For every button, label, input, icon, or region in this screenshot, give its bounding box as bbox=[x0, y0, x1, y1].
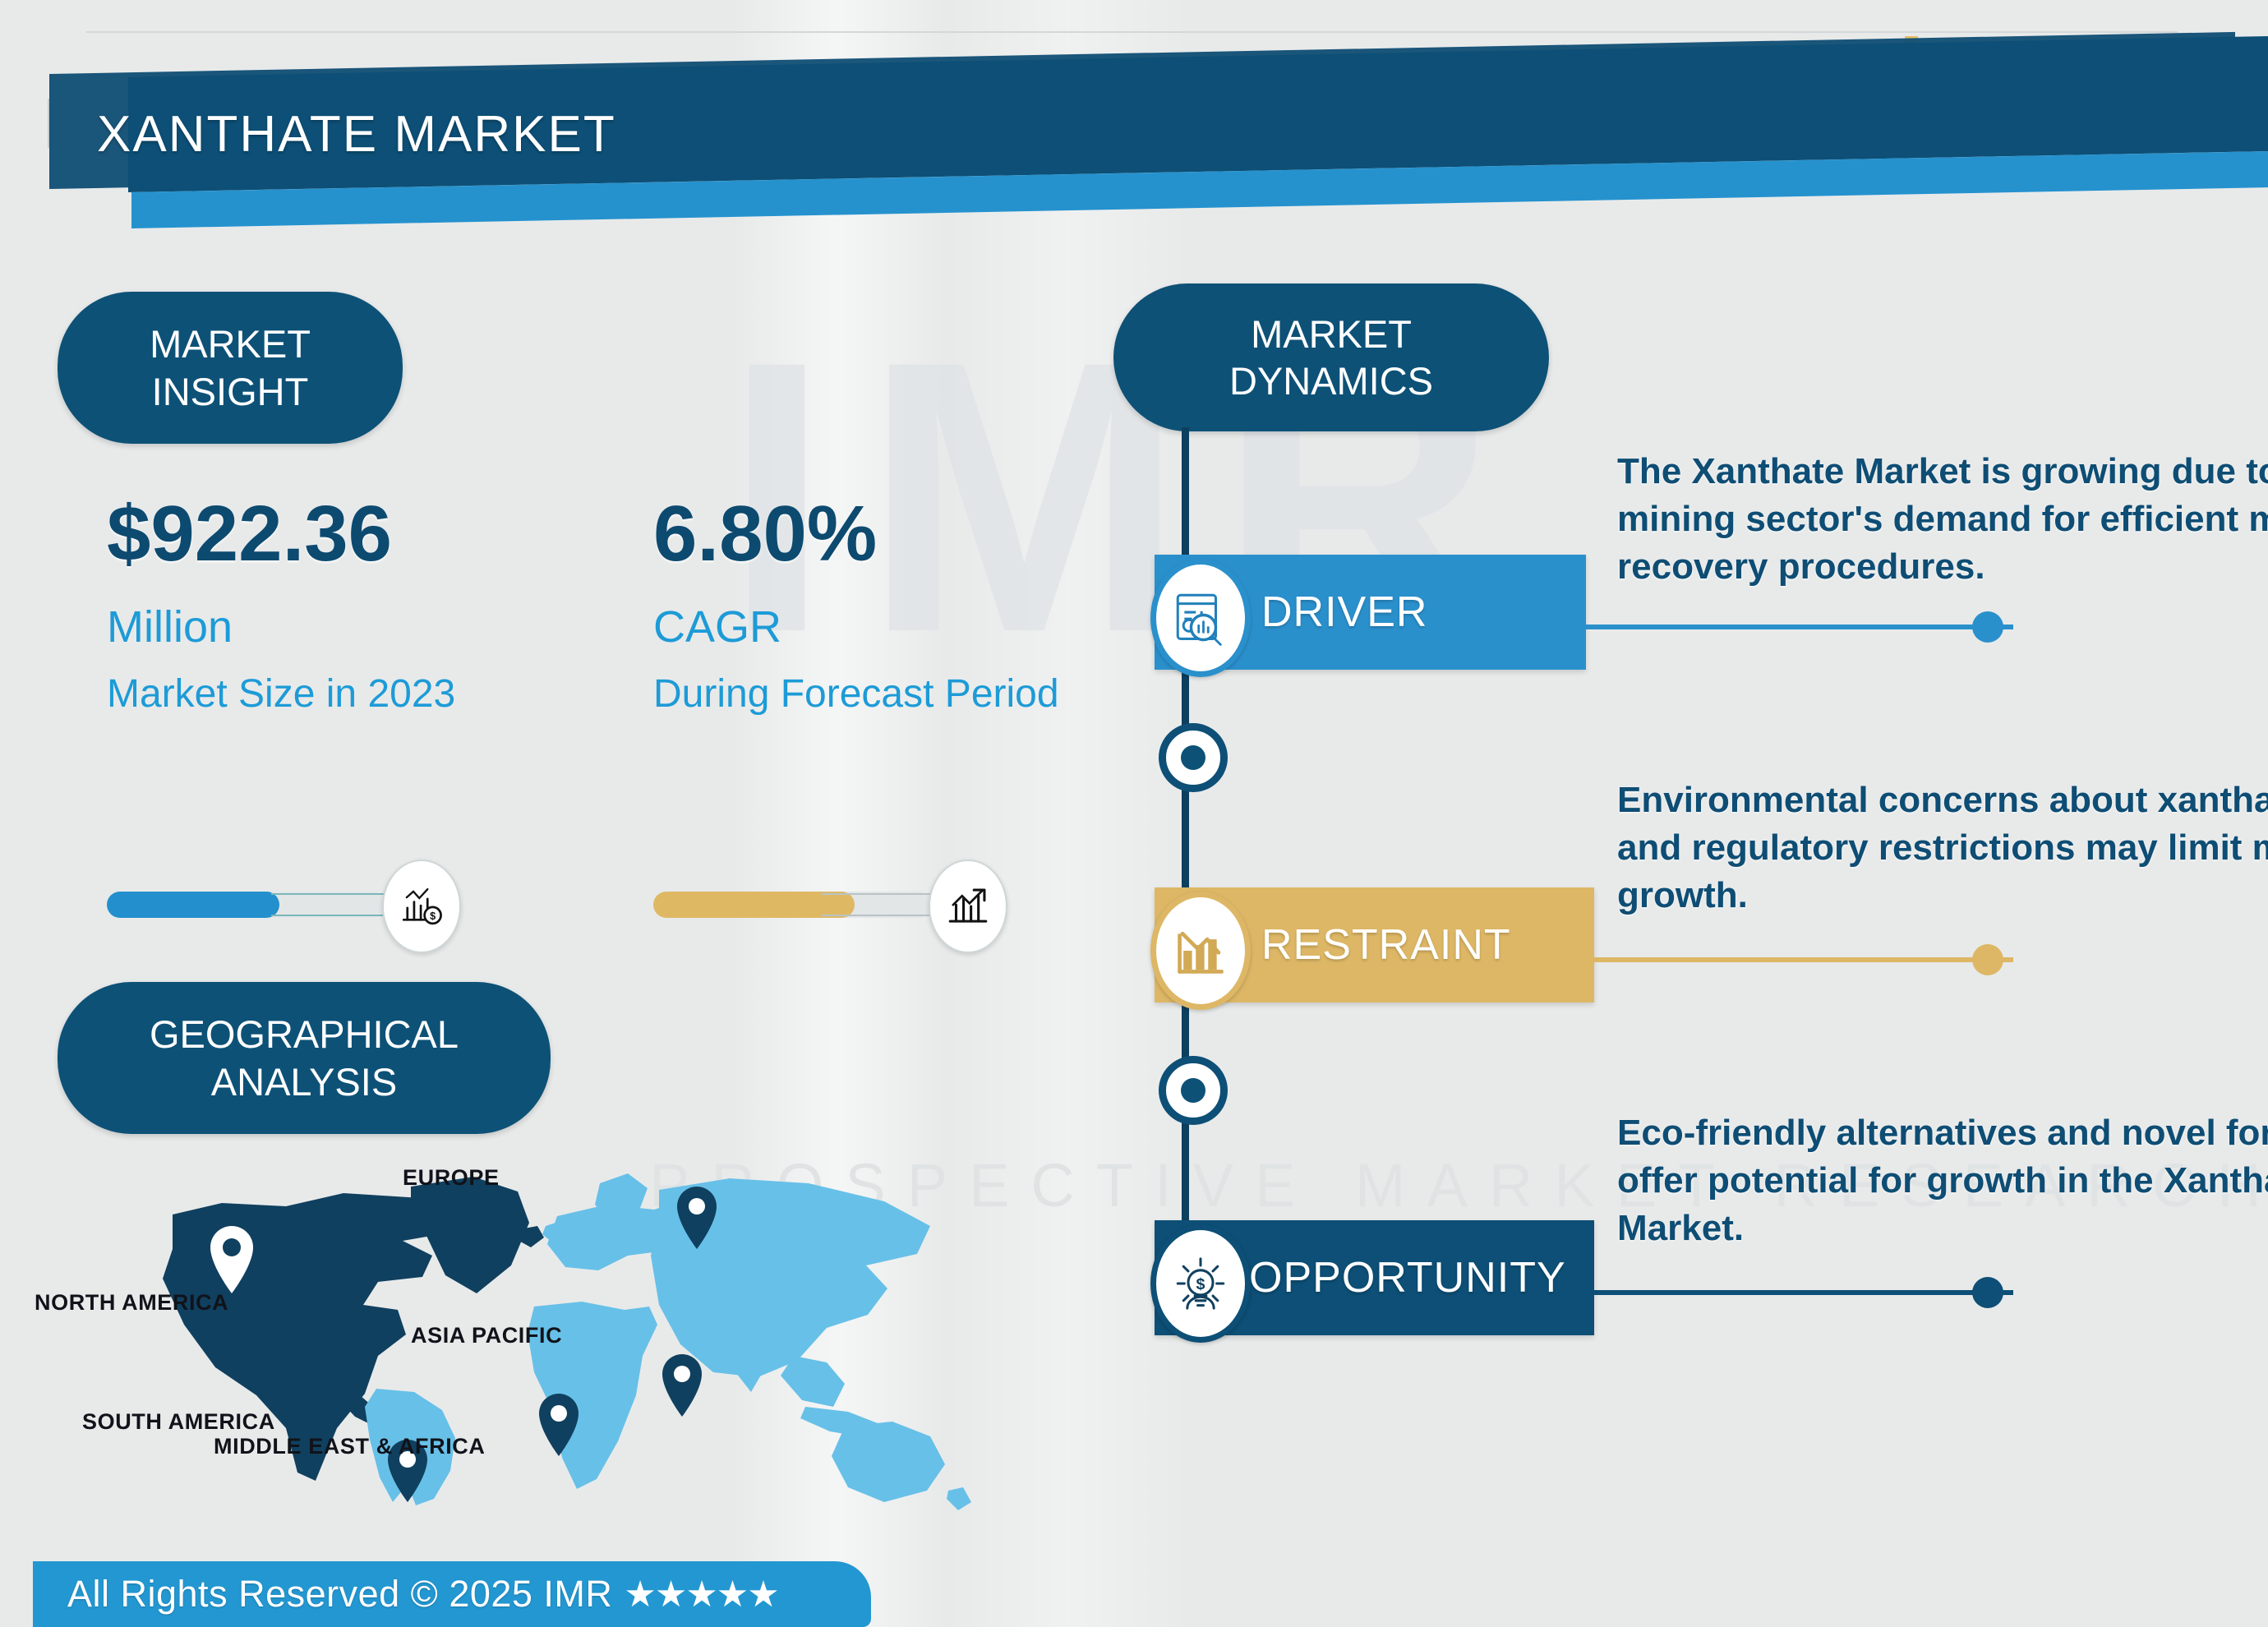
footer-bar: All Rights Reserved © 2025 IMR ★★★★★ bbox=[33, 1561, 871, 1627]
market-insight-pill-line2: INSIGHT bbox=[150, 368, 311, 415]
cagr-value: 6.80% bbox=[653, 493, 1113, 576]
map-iceland bbox=[516, 1226, 544, 1247]
star-rating-icon: ★★★★★ bbox=[624, 1574, 777, 1615]
stat-market-size: $922.36 Million Market Size in 2023 bbox=[107, 493, 616, 722]
report-analytics-magnifier-icon bbox=[1150, 559, 1251, 677]
driver-connector bbox=[1586, 625, 2013, 629]
restraint-connector-dot bbox=[1972, 944, 2003, 975]
copyright-text: All Rights Reserved © 2025 IMR bbox=[67, 1573, 612, 1615]
opportunity-connector bbox=[1586, 1290, 2013, 1295]
geo-pill-line1: GEOGRAPHICAL bbox=[150, 1011, 459, 1058]
svg-text:$: $ bbox=[1196, 1275, 1205, 1293]
timeline-node-1 bbox=[1159, 723, 1228, 792]
map-label-south-america: SOUTH AMERICA bbox=[82, 1409, 275, 1435]
restraint-label: RESTRAINT bbox=[1261, 920, 1511, 970]
growth-arrow-icon bbox=[929, 860, 1007, 953]
driver-text: The Xanthate Market is growing due to th… bbox=[1617, 448, 2268, 591]
market-size-progress-fill bbox=[107, 892, 279, 918]
market-dynamics-pill: MARKET DYNAMICS bbox=[1113, 283, 1549, 431]
market-insight-pill-line1: MARKET bbox=[150, 320, 311, 367]
opportunity-label: OPPORTUNITY bbox=[1249, 1253, 1566, 1302]
declining-bar-chart-icon bbox=[1150, 892, 1251, 1010]
lightbulb-dollar-icon: $ bbox=[1150, 1224, 1251, 1343]
svg-text:$: $ bbox=[430, 910, 436, 922]
map-label-asia-pacific: ASIA PACIFIC bbox=[411, 1323, 562, 1348]
world-map: NORTH AMERICA EUROPE ASIA PACIFIC SOUTH … bbox=[49, 1150, 1035, 1512]
market-dynamics-pill-line1: MARKET bbox=[1229, 311, 1433, 357]
map-new-zealand bbox=[947, 1487, 971, 1510]
driver-label: DRIVER bbox=[1261, 588, 1427, 637]
cagr-unit: CAGR bbox=[653, 597, 1113, 657]
map-landmasses bbox=[163, 1173, 971, 1510]
map-pin-asia-pacific bbox=[662, 1354, 702, 1417]
map-label-europe: EUROPE bbox=[403, 1165, 500, 1191]
market-size-description: Market Size in 2023 bbox=[107, 666, 616, 723]
restraint-connector bbox=[1586, 957, 2013, 962]
map-label-middle-east-africa: MIDDLE EAST & AFRICA bbox=[214, 1434, 486, 1459]
market-size-unit: Million bbox=[107, 597, 616, 657]
cagr-description: During Forecast Period bbox=[653, 666, 1113, 723]
market-insight-pill: MARKET INSIGHT bbox=[58, 292, 403, 444]
top-hairline bbox=[86, 31, 2178, 33]
infographic-root: IMR PROSPECTIVE MARKET RESEARCH XANTHATE… bbox=[0, 0, 2268, 1627]
geographical-analysis-pill: GEOGRAPHICAL ANALYSIS bbox=[58, 982, 551, 1134]
map-label-north-america: NORTH AMERICA bbox=[35, 1290, 228, 1316]
page-title: XANTHATE MARKET bbox=[97, 105, 616, 164]
market-size-value: $922.36 bbox=[107, 493, 616, 576]
timeline-node-2 bbox=[1159, 1056, 1228, 1125]
stat-cagr: 6.80% CAGR During Forecast Period bbox=[653, 493, 1113, 722]
map-india bbox=[721, 1320, 774, 1392]
map-southeast-asia bbox=[781, 1356, 845, 1407]
opportunity-text: Eco-friendly alternatives and novel form… bbox=[1617, 1109, 2268, 1252]
opportunity-connector-dot bbox=[1972, 1277, 2003, 1308]
restraint-text: Environmental concerns about xanthate to… bbox=[1617, 777, 2268, 920]
market-dynamics-pill-line2: DYNAMICS bbox=[1229, 357, 1433, 404]
map-region-australia bbox=[832, 1422, 945, 1502]
bar-chart-dollar-icon: $ bbox=[382, 860, 461, 953]
map-region-greenland bbox=[411, 1177, 529, 1293]
driver-connector-dot bbox=[1972, 611, 2003, 643]
geo-pill-line2: ANALYSIS bbox=[150, 1058, 459, 1105]
